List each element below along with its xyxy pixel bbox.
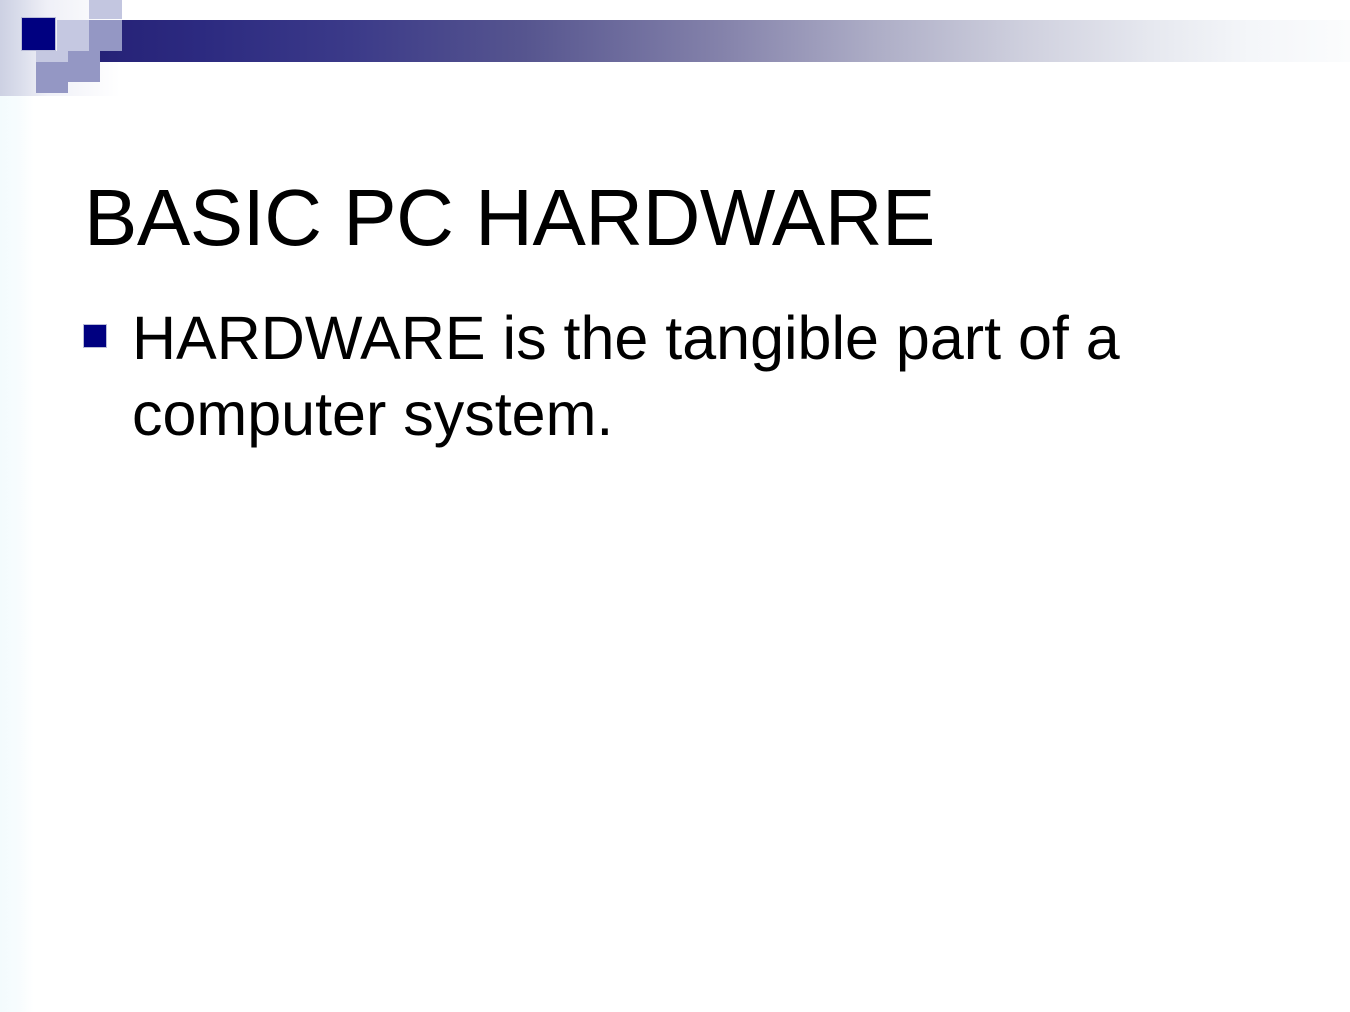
accent-square-medium-lower <box>68 51 100 82</box>
slide-title: BASIC PC HARDWARE <box>84 178 1274 258</box>
slide-body: HARDWARE is the tangible part of a compu… <box>84 300 1204 452</box>
presentation-slide: BASIC PC HARDWARE HARDWARE is the tangib… <box>0 0 1350 1012</box>
accent-square-medium-upper <box>89 20 122 51</box>
header-gradient-bar <box>100 20 1350 62</box>
accent-square-light-top <box>89 0 122 19</box>
left-edge-tint <box>0 0 34 1012</box>
header-decoration <box>0 0 1350 100</box>
bullet-item-text: HARDWARE is the tangible part of a compu… <box>132 300 1204 452</box>
accent-square-navy <box>22 18 55 50</box>
square-bullet-icon <box>84 325 106 347</box>
accent-square-light-mid <box>57 20 89 51</box>
bullet-list-item: HARDWARE is the tangible part of a compu… <box>84 300 1204 452</box>
accent-square-medium-bottom <box>36 62 68 93</box>
